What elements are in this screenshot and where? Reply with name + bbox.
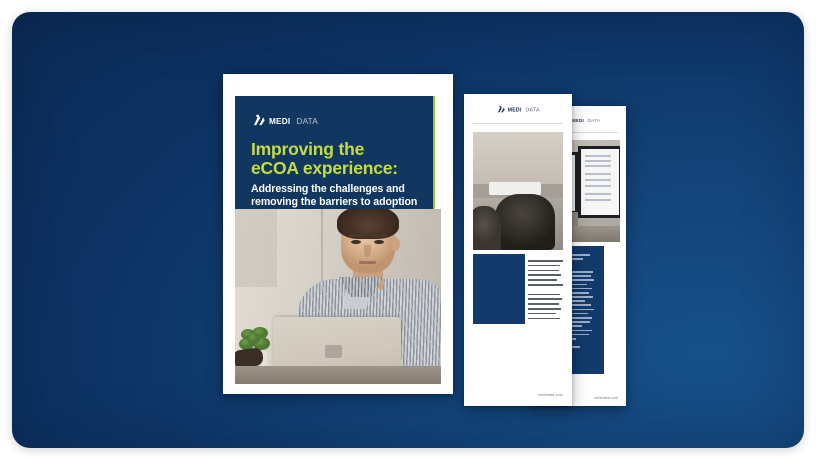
page-2-body-text — [528, 260, 564, 322]
medidata-logo-icon: MEDI DATA — [251, 114, 339, 127]
document-page-2[interactable]: MEDI DATA — [464, 94, 572, 406]
medidata-logo-icon: MEDI DATA — [496, 105, 554, 114]
photo-person-eye-left — [351, 240, 361, 244]
photo-card — [489, 182, 541, 195]
photo-person-nose — [364, 245, 371, 257]
photo-person-brow-left — [349, 234, 363, 237]
hero-stage: MEDI DATA — [12, 12, 804, 448]
cover-subtitle-line-2: removing the barriers to adoption — [251, 196, 417, 208]
cover-subtitle-line-1: Addressing the challenges and — [251, 183, 405, 195]
photo-person-eye-right — [374, 240, 384, 244]
cover-header-block: MEDI DATA Improving the eCOA experience:… — [235, 96, 435, 209]
photo-wall — [473, 132, 563, 184]
cover-title-line-2: eCOA experience: — [251, 158, 398, 178]
monitor-right-icon — [578, 146, 620, 218]
header-divider — [473, 123, 563, 124]
page-subtitle: Addressing the challenges and removing t… — [251, 183, 419, 210]
svg-text:MEDI: MEDI — [508, 108, 522, 114]
svg-text:DATA: DATA — [587, 118, 601, 124]
photo-wall-panel — [235, 209, 277, 287]
photo-person-secondary — [473, 206, 501, 250]
svg-text:DATA: DATA — [296, 117, 318, 126]
svg-text:MEDI: MEDI — [571, 118, 584, 124]
cover-content: MEDI DATA Improving the eCOA experience:… — [235, 96, 441, 384]
cover-photo — [235, 209, 441, 384]
photo-person-brow-right — [373, 234, 387, 237]
photo-person-mouth — [359, 261, 376, 264]
photo-desk — [235, 366, 441, 384]
page-title: Improving the eCOA experience: — [251, 140, 419, 179]
svg-text:MEDI: MEDI — [269, 117, 290, 126]
photo-person-ear — [391, 237, 400, 251]
page-2-footer: medidata.com — [464, 393, 563, 397]
photo-person-hair — [337, 209, 399, 239]
svg-text:DATA: DATA — [525, 108, 539, 114]
page-2-photo — [473, 132, 563, 250]
screenshot-canvas: MEDI DATA — [0, 0, 816, 460]
document-page-1-cover[interactable]: MEDI DATA Improving the eCOA experience:… — [223, 74, 453, 394]
cover-title-line-1: Improving the — [251, 139, 364, 159]
page-2-accent-panel — [473, 254, 525, 324]
photo-person-main — [495, 194, 555, 250]
